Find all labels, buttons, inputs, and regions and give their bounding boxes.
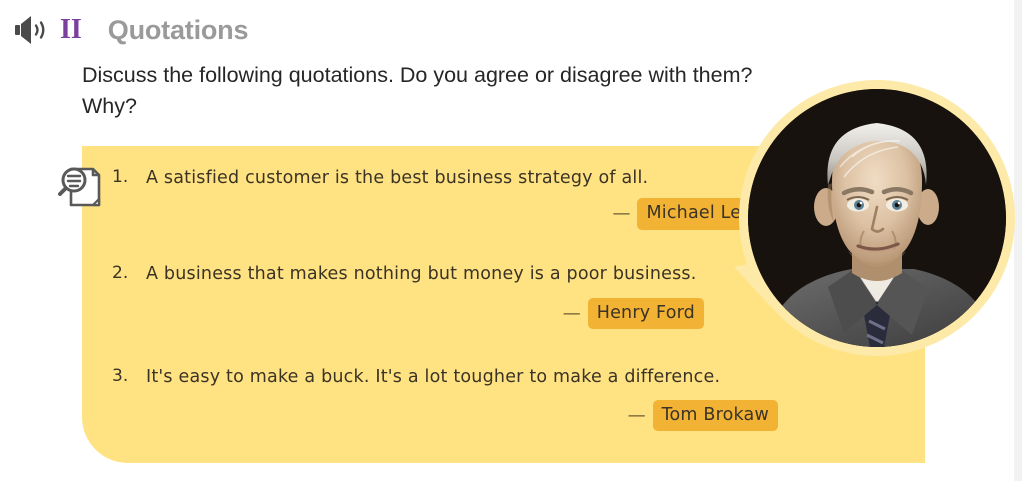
- avatar: [748, 89, 1006, 347]
- page-root: II Quotations Discuss the following quot…: [0, 0, 1022, 481]
- portrait-speech-bubble: [739, 80, 1015, 356]
- attribution-dash: —: [612, 203, 630, 224]
- quote-attribution: — Michael LeBoeuf: [112, 198, 812, 229]
- quote-number: 3.: [112, 363, 146, 391]
- section-header: II Quotations: [12, 10, 248, 50]
- quote-text: A satisfied customer is the best busines…: [146, 164, 812, 192]
- right-edge-strip: [1014, 0, 1022, 481]
- quote-attribution: — Tom Brokaw: [112, 400, 812, 431]
- quote-text: It's easy to make a buck. It's a lot tou…: [146, 363, 812, 391]
- page-title: Quotations: [108, 17, 249, 44]
- speaker-audio-icon[interactable]: [12, 14, 52, 46]
- quote-number: 1.: [112, 164, 146, 192]
- attribution-dash: —: [563, 303, 581, 324]
- quote-text: A business that makes nothing but money …: [146, 260, 812, 288]
- quotations-list: 1. A satisfied customer is the best busi…: [112, 164, 812, 457]
- instruction-text: Discuss the following quotations. Do you…: [82, 60, 772, 121]
- list-item: 3. It's easy to make a buck. It's a lot …: [112, 363, 812, 431]
- quote-number: 2.: [112, 260, 146, 288]
- magnifier-document-icon: [57, 163, 105, 211]
- quote-attribution: — Henry Ford: [112, 298, 812, 329]
- list-item: 1. A satisfied customer is the best busi…: [112, 164, 812, 230]
- section-numeral: II: [60, 16, 82, 44]
- attribution-name: Tom Brokaw: [653, 400, 778, 431]
- attribution-name: Henry Ford: [588, 298, 704, 329]
- list-item: 2. A business that makes nothing but mon…: [112, 260, 812, 330]
- attribution-dash: —: [628, 405, 646, 426]
